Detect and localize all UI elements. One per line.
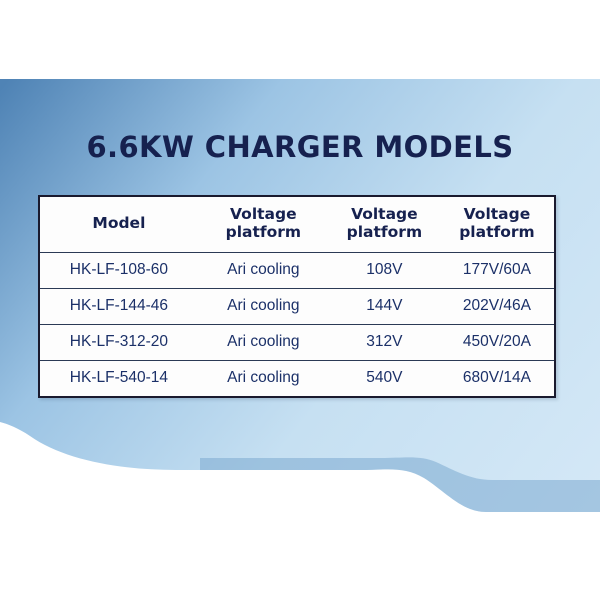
cell-platform: 540V [329, 360, 440, 396]
background-white-top-band [0, 0, 600, 79]
table-row: HK-LF-108-60 Ari cooling 108V 177V/60A [40, 252, 554, 288]
column-header-model: Model [40, 197, 198, 252]
column-header-voltage-platform-3: Voltage platform [440, 197, 554, 252]
table-row: HK-LF-540-14 Ari cooling 540V 680V/14A [40, 360, 554, 396]
cell-cooling: Ari cooling [198, 288, 329, 324]
cell-platform: 108V [329, 252, 440, 288]
cell-platform: 312V [329, 324, 440, 360]
cell-cooling: Ari cooling [198, 324, 329, 360]
cell-platform: 144V [329, 288, 440, 324]
cell-cooling: Ari cooling [198, 360, 329, 396]
slide-canvas: 6.6KW CHARGER MODELS Model Voltage platf… [0, 0, 600, 600]
models-table-container: Model Voltage platform Voltage platform … [38, 195, 556, 398]
page-title: 6.6KW CHARGER MODELS [0, 130, 600, 164]
cell-model: HK-LF-108-60 [40, 252, 198, 288]
cell-model: HK-LF-144-46 [40, 288, 198, 324]
table-row: HK-LF-312-20 Ari cooling 312V 450V/20A [40, 324, 554, 360]
cell-output: 202V/46A [440, 288, 554, 324]
cell-model: HK-LF-540-14 [40, 360, 198, 396]
table-header-row: Model Voltage platform Voltage platform … [40, 197, 554, 252]
cell-output: 177V/60A [440, 252, 554, 288]
charger-models-table: Model Voltage platform Voltage platform … [40, 197, 554, 396]
cell-output: 450V/20A [440, 324, 554, 360]
column-header-voltage-platform-2: Voltage platform [329, 197, 440, 252]
column-header-voltage-platform-1: Voltage platform [198, 197, 329, 252]
cell-model: HK-LF-312-20 [40, 324, 198, 360]
cell-cooling: Ari cooling [198, 252, 329, 288]
table-row: HK-LF-144-46 Ari cooling 144V 202V/46A [40, 288, 554, 324]
cell-output: 680V/14A [440, 360, 554, 396]
